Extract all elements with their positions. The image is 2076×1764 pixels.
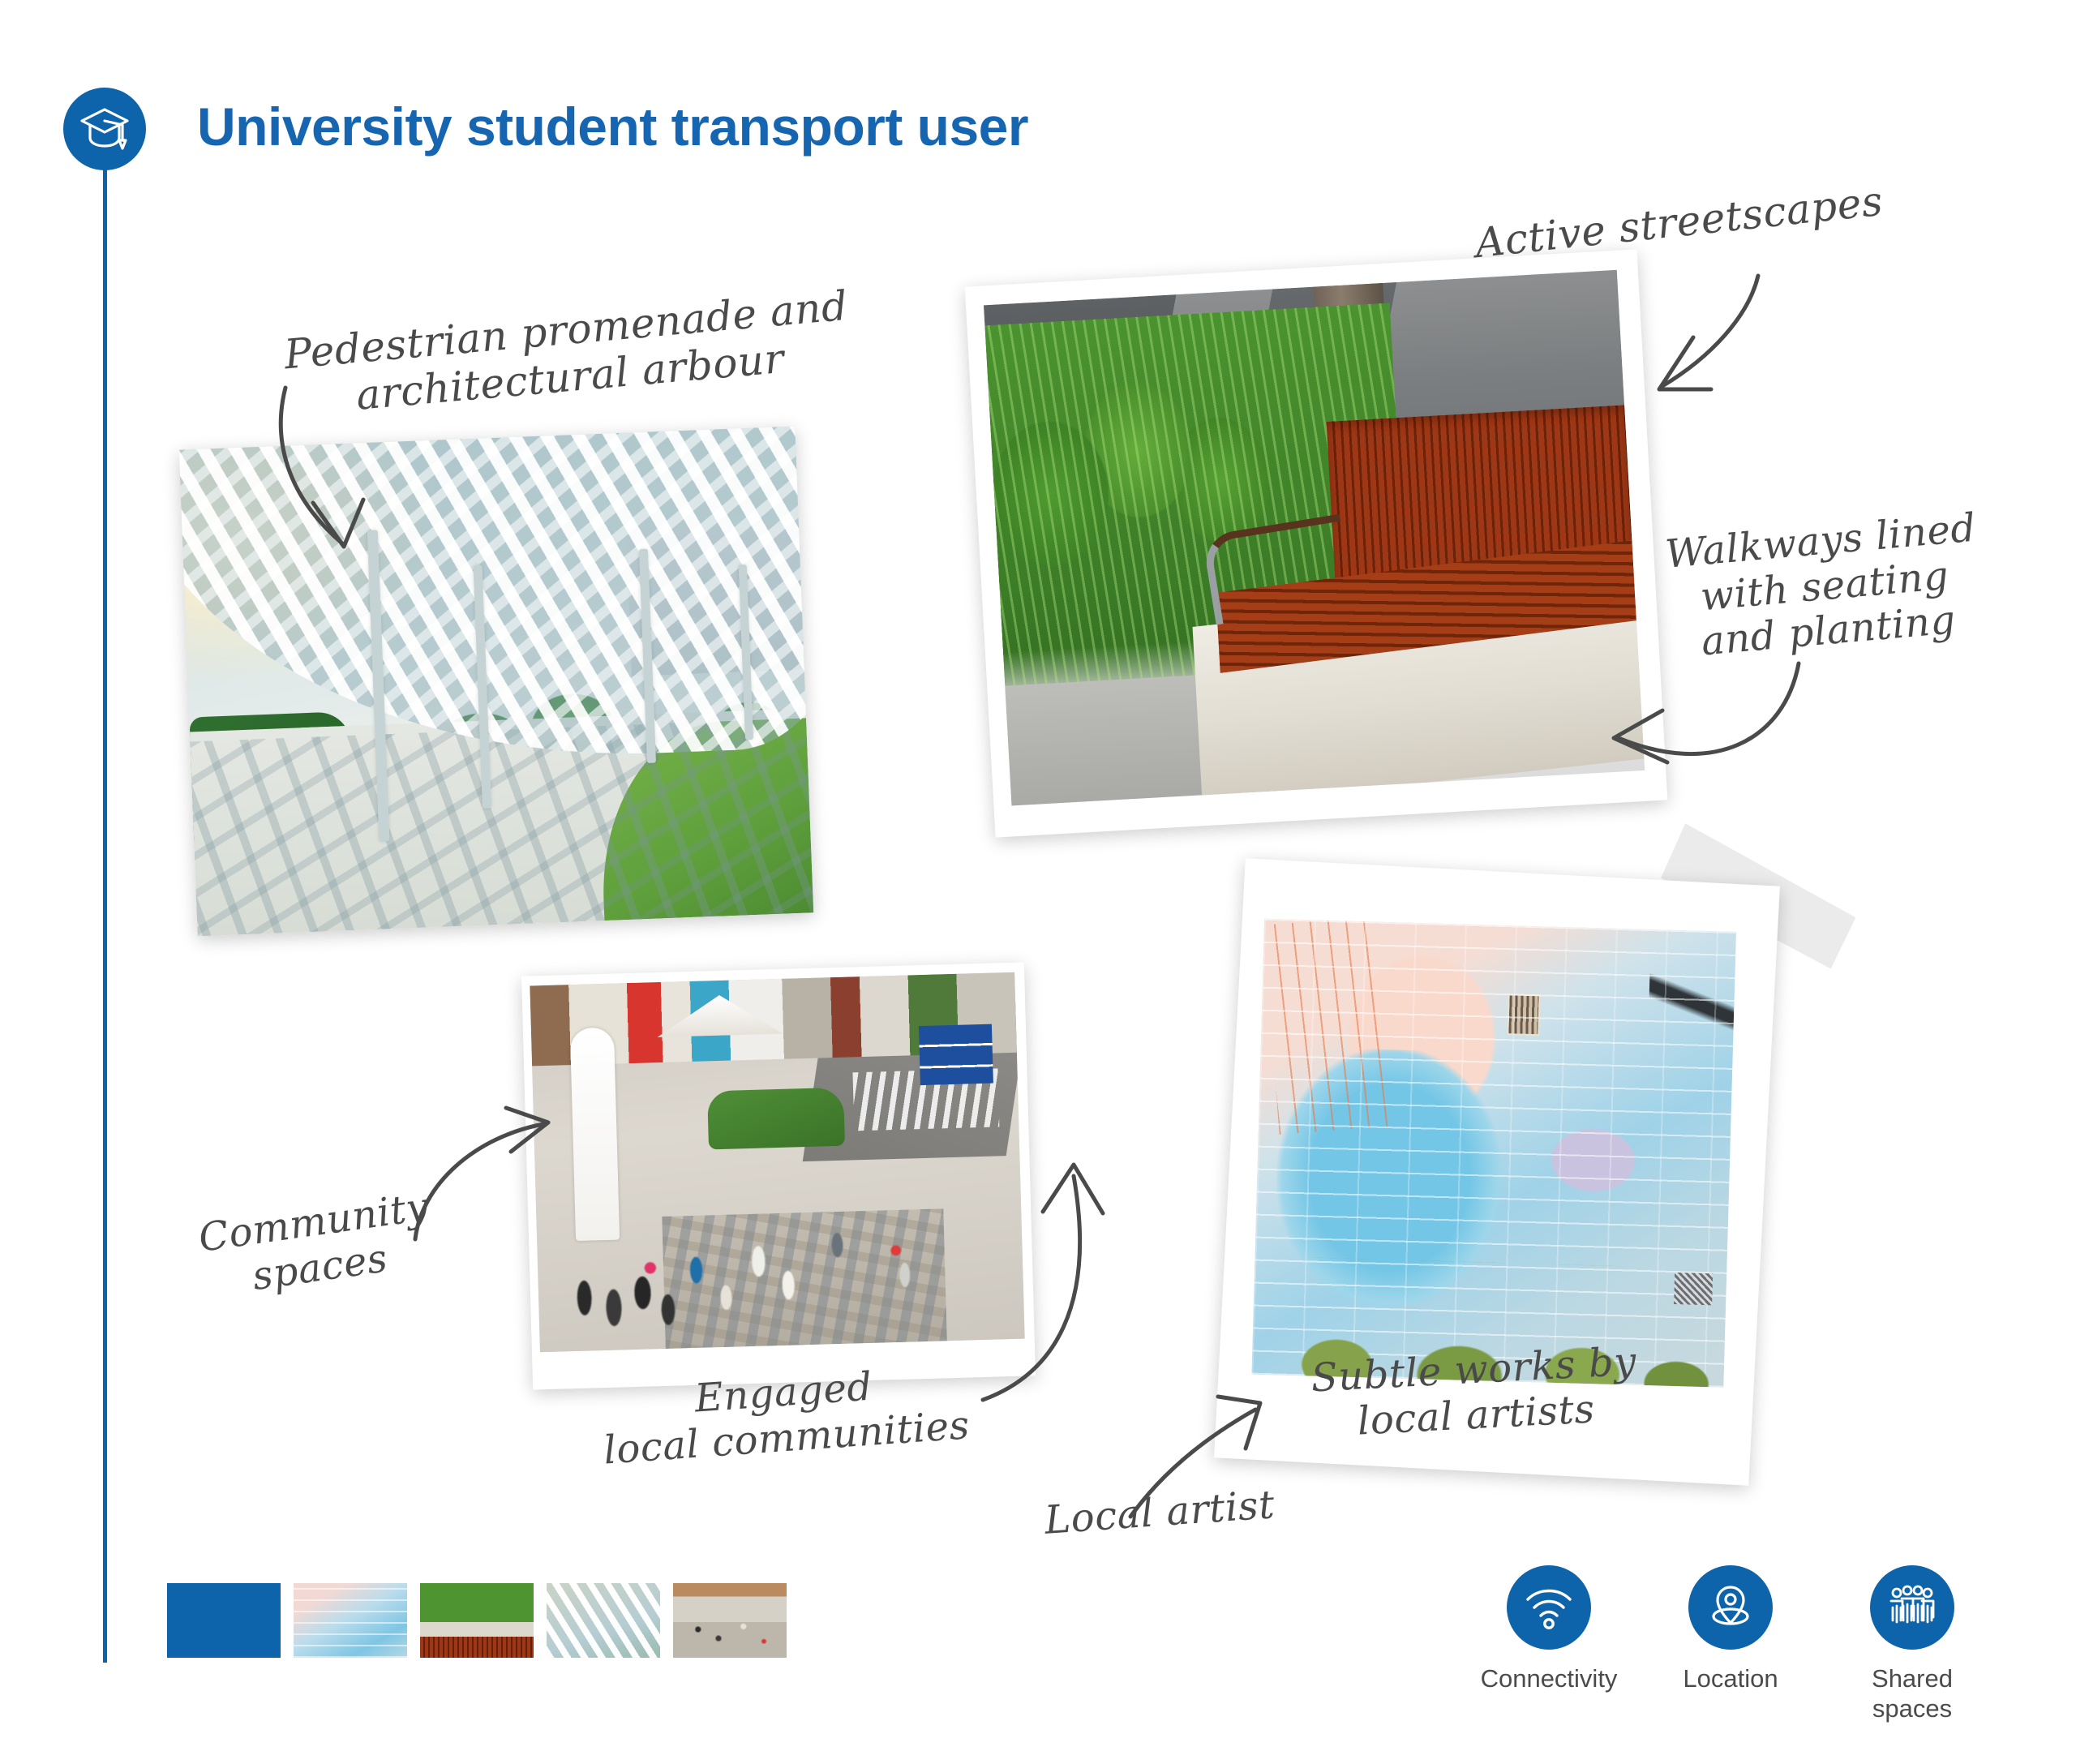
thumbnail-mural[interactable]	[294, 1583, 407, 1658]
feature-connectivity-label: Connectivity	[1481, 1664, 1618, 1694]
feature-shared-spaces-label: Shared spaces	[1872, 1664, 1953, 1723]
arrow-to-arbour	[268, 381, 511, 616]
annotation-community-spaces: Community spaces	[196, 1185, 438, 1307]
thumbnail-bench[interactable]	[420, 1583, 534, 1658]
arrow-to-mural	[1111, 1363, 1289, 1525]
arrow-to-bench-bottom	[1541, 641, 1808, 803]
wifi-icon	[1507, 1565, 1591, 1650]
thumbnail-street[interactable]	[673, 1583, 787, 1658]
feature-shared-spaces[interactable]: Shared spaces	[1844, 1565, 1980, 1723]
arrow-to-street-right	[965, 1111, 1127, 1411]
street-photo[interactable]	[521, 962, 1036, 1389]
header-stem-line	[103, 169, 107, 1663]
thumbnail-colour-swatch[interactable]	[167, 1583, 281, 1658]
persona-board: University student transport user	[0, 0, 2076, 1764]
street-photo-image	[530, 972, 1024, 1353]
map-pin-icon	[1688, 1565, 1773, 1650]
page-title: University student transport user	[197, 96, 1028, 157]
thumbnail-strip	[167, 1583, 787, 1658]
arrow-to-street-left	[405, 1087, 560, 1249]
graduation-cap-icon	[63, 88, 146, 170]
arrow-to-bench-top	[1557, 268, 1776, 414]
thumbnail-arbour[interactable]	[547, 1583, 660, 1658]
annotation-active-streetscapes: Active streetscapes	[1473, 178, 1885, 267]
feature-icon-cluster: Connectivity Location	[1481, 1565, 1980, 1723]
mural-photo-image	[1251, 919, 1735, 1388]
annotation-subtle-works: Subtle works by local artists	[1310, 1340, 1640, 1447]
feature-location[interactable]: Location	[1662, 1565, 1799, 1723]
people-group-icon	[1870, 1565, 1954, 1650]
feature-connectivity[interactable]: Connectivity	[1481, 1565, 1617, 1723]
feature-location-label: Location	[1683, 1664, 1778, 1694]
